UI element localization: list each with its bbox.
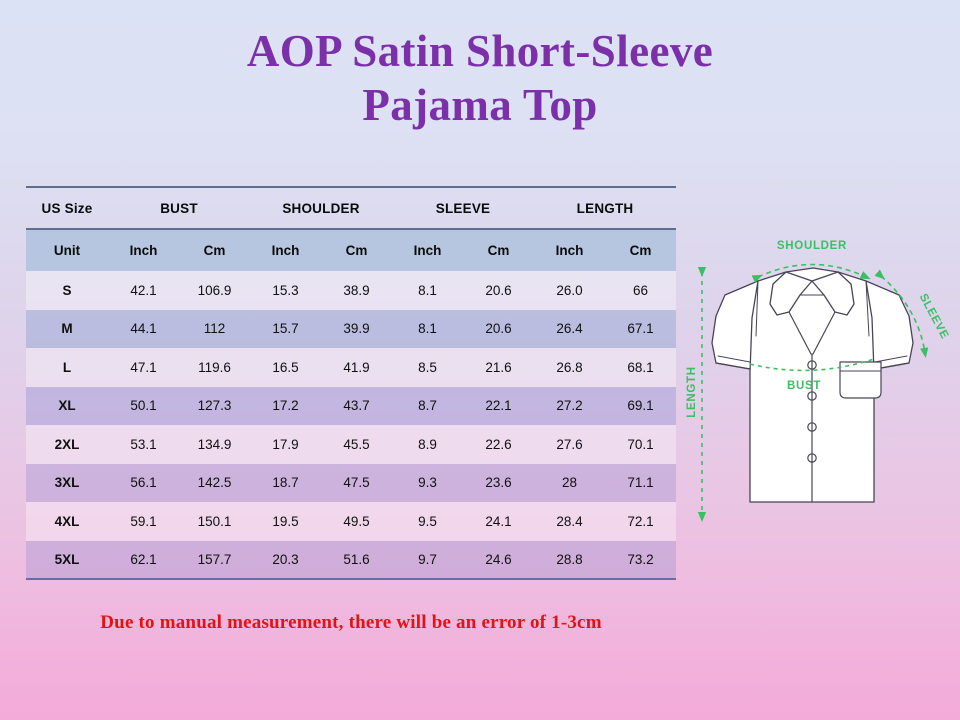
cell-size: 3XL <box>26 464 108 503</box>
cell-length-inch: 26.4 <box>534 310 605 349</box>
cell-bust-cm: 150.1 <box>179 502 250 541</box>
cell-length-cm: 68.1 <box>605 348 676 387</box>
cell-bust-inch: 53.1 <box>108 425 179 464</box>
cell-shoulder-inch: 17.9 <box>250 425 321 464</box>
cell-sleeve-inch: 8.1 <box>392 310 463 349</box>
page-title: AOP Satin Short-Sleeve Pajama Top <box>0 24 960 132</box>
cell-bust-cm: 119.6 <box>179 348 250 387</box>
cell-length-cm: 67.1 <box>605 310 676 349</box>
page-title-line-2: Pajama Top <box>0 78 960 132</box>
cell-shoulder-cm: 43.7 <box>321 387 392 426</box>
cell-size: S <box>26 271 108 310</box>
cell-bust-cm: 134.9 <box>179 425 250 464</box>
group-header-sleeve: SLEEVE <box>392 187 534 229</box>
table-row: 2XL 53.1 134.9 17.9 45.5 8.9 22.6 27.6 7… <box>26 425 676 464</box>
cell-shoulder-cm: 47.5 <box>321 464 392 503</box>
cell-shoulder-inch: 19.5 <box>250 502 321 541</box>
unit-header-shoulder-cm: Cm <box>321 229 392 271</box>
cell-length-cm: 72.1 <box>605 502 676 541</box>
cell-size: 2XL <box>26 425 108 464</box>
cell-bust-cm: 142.5 <box>179 464 250 503</box>
cell-shoulder-cm: 45.5 <box>321 425 392 464</box>
cell-bust-inch: 47.1 <box>108 348 179 387</box>
cell-length-inch: 27.2 <box>534 387 605 426</box>
cell-sleeve-inch: 8.5 <box>392 348 463 387</box>
cell-sleeve-inch: 9.3 <box>392 464 463 503</box>
table-row: S 42.1 106.9 15.3 38.9 8.1 20.6 26.0 66 <box>26 271 676 310</box>
cell-length-inch: 28.4 <box>534 502 605 541</box>
cell-length-cm: 70.1 <box>605 425 676 464</box>
cell-sleeve-cm: 21.6 <box>463 348 534 387</box>
cell-length-inch: 28 <box>534 464 605 503</box>
measurement-disclaimer: Due to manual measurement, there will be… <box>26 612 676 634</box>
group-header-us-size: US Size <box>26 187 108 229</box>
page-title-line-1: AOP Satin Short-Sleeve <box>0 24 960 78</box>
cell-length-inch: 26.0 <box>534 271 605 310</box>
cell-length-inch: 28.8 <box>534 541 605 580</box>
cell-bust-inch: 42.1 <box>108 271 179 310</box>
table-group-header-row: US Size BUST SHOULDER SLEEVE LENGTH <box>26 187 676 229</box>
length-label: LENGTH <box>686 366 698 417</box>
cell-shoulder-inch: 16.5 <box>250 348 321 387</box>
cell-sleeve-cm: 24.6 <box>463 541 534 580</box>
cell-length-cm: 69.1 <box>605 387 676 426</box>
table-row: 4XL 59.1 150.1 19.5 49.5 9.5 24.1 28.4 7… <box>26 502 676 541</box>
unit-header-length-inch: Inch <box>534 229 605 271</box>
cell-bust-inch: 56.1 <box>108 464 179 503</box>
shoulder-label: SHOULDER <box>777 240 847 252</box>
table-unit-header-row: Unit Inch Cm Inch Cm Inch Cm Inch Cm <box>26 229 676 271</box>
cell-bust-inch: 59.1 <box>108 502 179 541</box>
cell-bust-inch: 50.1 <box>108 387 179 426</box>
cell-sleeve-inch: 8.9 <box>392 425 463 464</box>
table-row: XL 50.1 127.3 17.2 43.7 8.7 22.1 27.2 69… <box>26 387 676 426</box>
table-row: 5XL 62.1 157.7 20.3 51.6 9.7 24.6 28.8 7… <box>26 541 676 580</box>
unit-header-unit: Unit <box>26 229 108 271</box>
cell-length-cm: 73.2 <box>605 541 676 580</box>
table-row: M 44.1 112 15.7 39.9 8.1 20.6 26.4 67.1 <box>26 310 676 349</box>
cell-length-cm: 71.1 <box>605 464 676 503</box>
table-row: L 47.1 119.6 16.5 41.9 8.5 21.6 26.8 68.… <box>26 348 676 387</box>
cell-shoulder-inch: 15.7 <box>250 310 321 349</box>
cell-shoulder-cm: 41.9 <box>321 348 392 387</box>
unit-header-sleeve-cm: Cm <box>463 229 534 271</box>
cell-bust-cm: 112 <box>179 310 250 349</box>
cell-length-inch: 27.6 <box>534 425 605 464</box>
unit-header-shoulder-inch: Inch <box>250 229 321 271</box>
size-chart-table-container: US Size BUST SHOULDER SLEEVE LENGTH Unit… <box>26 186 676 580</box>
cell-sleeve-inch: 9.5 <box>392 502 463 541</box>
cell-shoulder-inch: 18.7 <box>250 464 321 503</box>
cell-bust-cm: 106.9 <box>179 271 250 310</box>
cell-size: M <box>26 310 108 349</box>
unit-header-sleeve-inch: Inch <box>392 229 463 271</box>
cell-shoulder-cm: 51.6 <box>321 541 392 580</box>
unit-header-bust-cm: Cm <box>179 229 250 271</box>
cell-size: L <box>26 348 108 387</box>
cell-shoulder-cm: 49.5 <box>321 502 392 541</box>
cell-size: 4XL <box>26 502 108 541</box>
cell-size: 5XL <box>26 541 108 580</box>
cell-sleeve-inch: 8.1 <box>392 271 463 310</box>
cell-size: XL <box>26 387 108 426</box>
cell-sleeve-cm: 20.6 <box>463 271 534 310</box>
group-header-bust: BUST <box>108 187 250 229</box>
cell-shoulder-inch: 17.2 <box>250 387 321 426</box>
cell-bust-inch: 62.1 <box>108 541 179 580</box>
cell-length-inch: 26.8 <box>534 348 605 387</box>
unit-header-bust-inch: Inch <box>108 229 179 271</box>
cell-shoulder-inch: 15.3 <box>250 271 321 310</box>
cell-bust-cm: 157.7 <box>179 541 250 580</box>
table-row: 3XL 56.1 142.5 18.7 47.5 9.3 23.6 28 71.… <box>26 464 676 503</box>
size-chart-table: US Size BUST SHOULDER SLEEVE LENGTH Unit… <box>26 186 676 580</box>
cell-shoulder-cm: 39.9 <box>321 310 392 349</box>
cell-shoulder-inch: 20.3 <box>250 541 321 580</box>
garment-measurement-diagram: SHOULDER SLEEVE BUST LENGTH <box>682 232 960 532</box>
group-header-shoulder: SHOULDER <box>250 187 392 229</box>
cell-shoulder-cm: 38.9 <box>321 271 392 310</box>
bust-label: BUST <box>787 380 821 392</box>
cell-sleeve-inch: 8.7 <box>392 387 463 426</box>
cell-sleeve-cm: 24.1 <box>463 502 534 541</box>
unit-header-length-cm: Cm <box>605 229 676 271</box>
cell-sleeve-cm: 22.1 <box>463 387 534 426</box>
cell-bust-inch: 44.1 <box>108 310 179 349</box>
cell-length-cm: 66 <box>605 271 676 310</box>
sleeve-label: SLEEVE <box>917 292 951 341</box>
cell-sleeve-inch: 9.7 <box>392 541 463 580</box>
cell-sleeve-cm: 22.6 <box>463 425 534 464</box>
cell-sleeve-cm: 20.6 <box>463 310 534 349</box>
cell-bust-cm: 127.3 <box>179 387 250 426</box>
cell-sleeve-cm: 23.6 <box>463 464 534 503</box>
group-header-length: LENGTH <box>534 187 676 229</box>
